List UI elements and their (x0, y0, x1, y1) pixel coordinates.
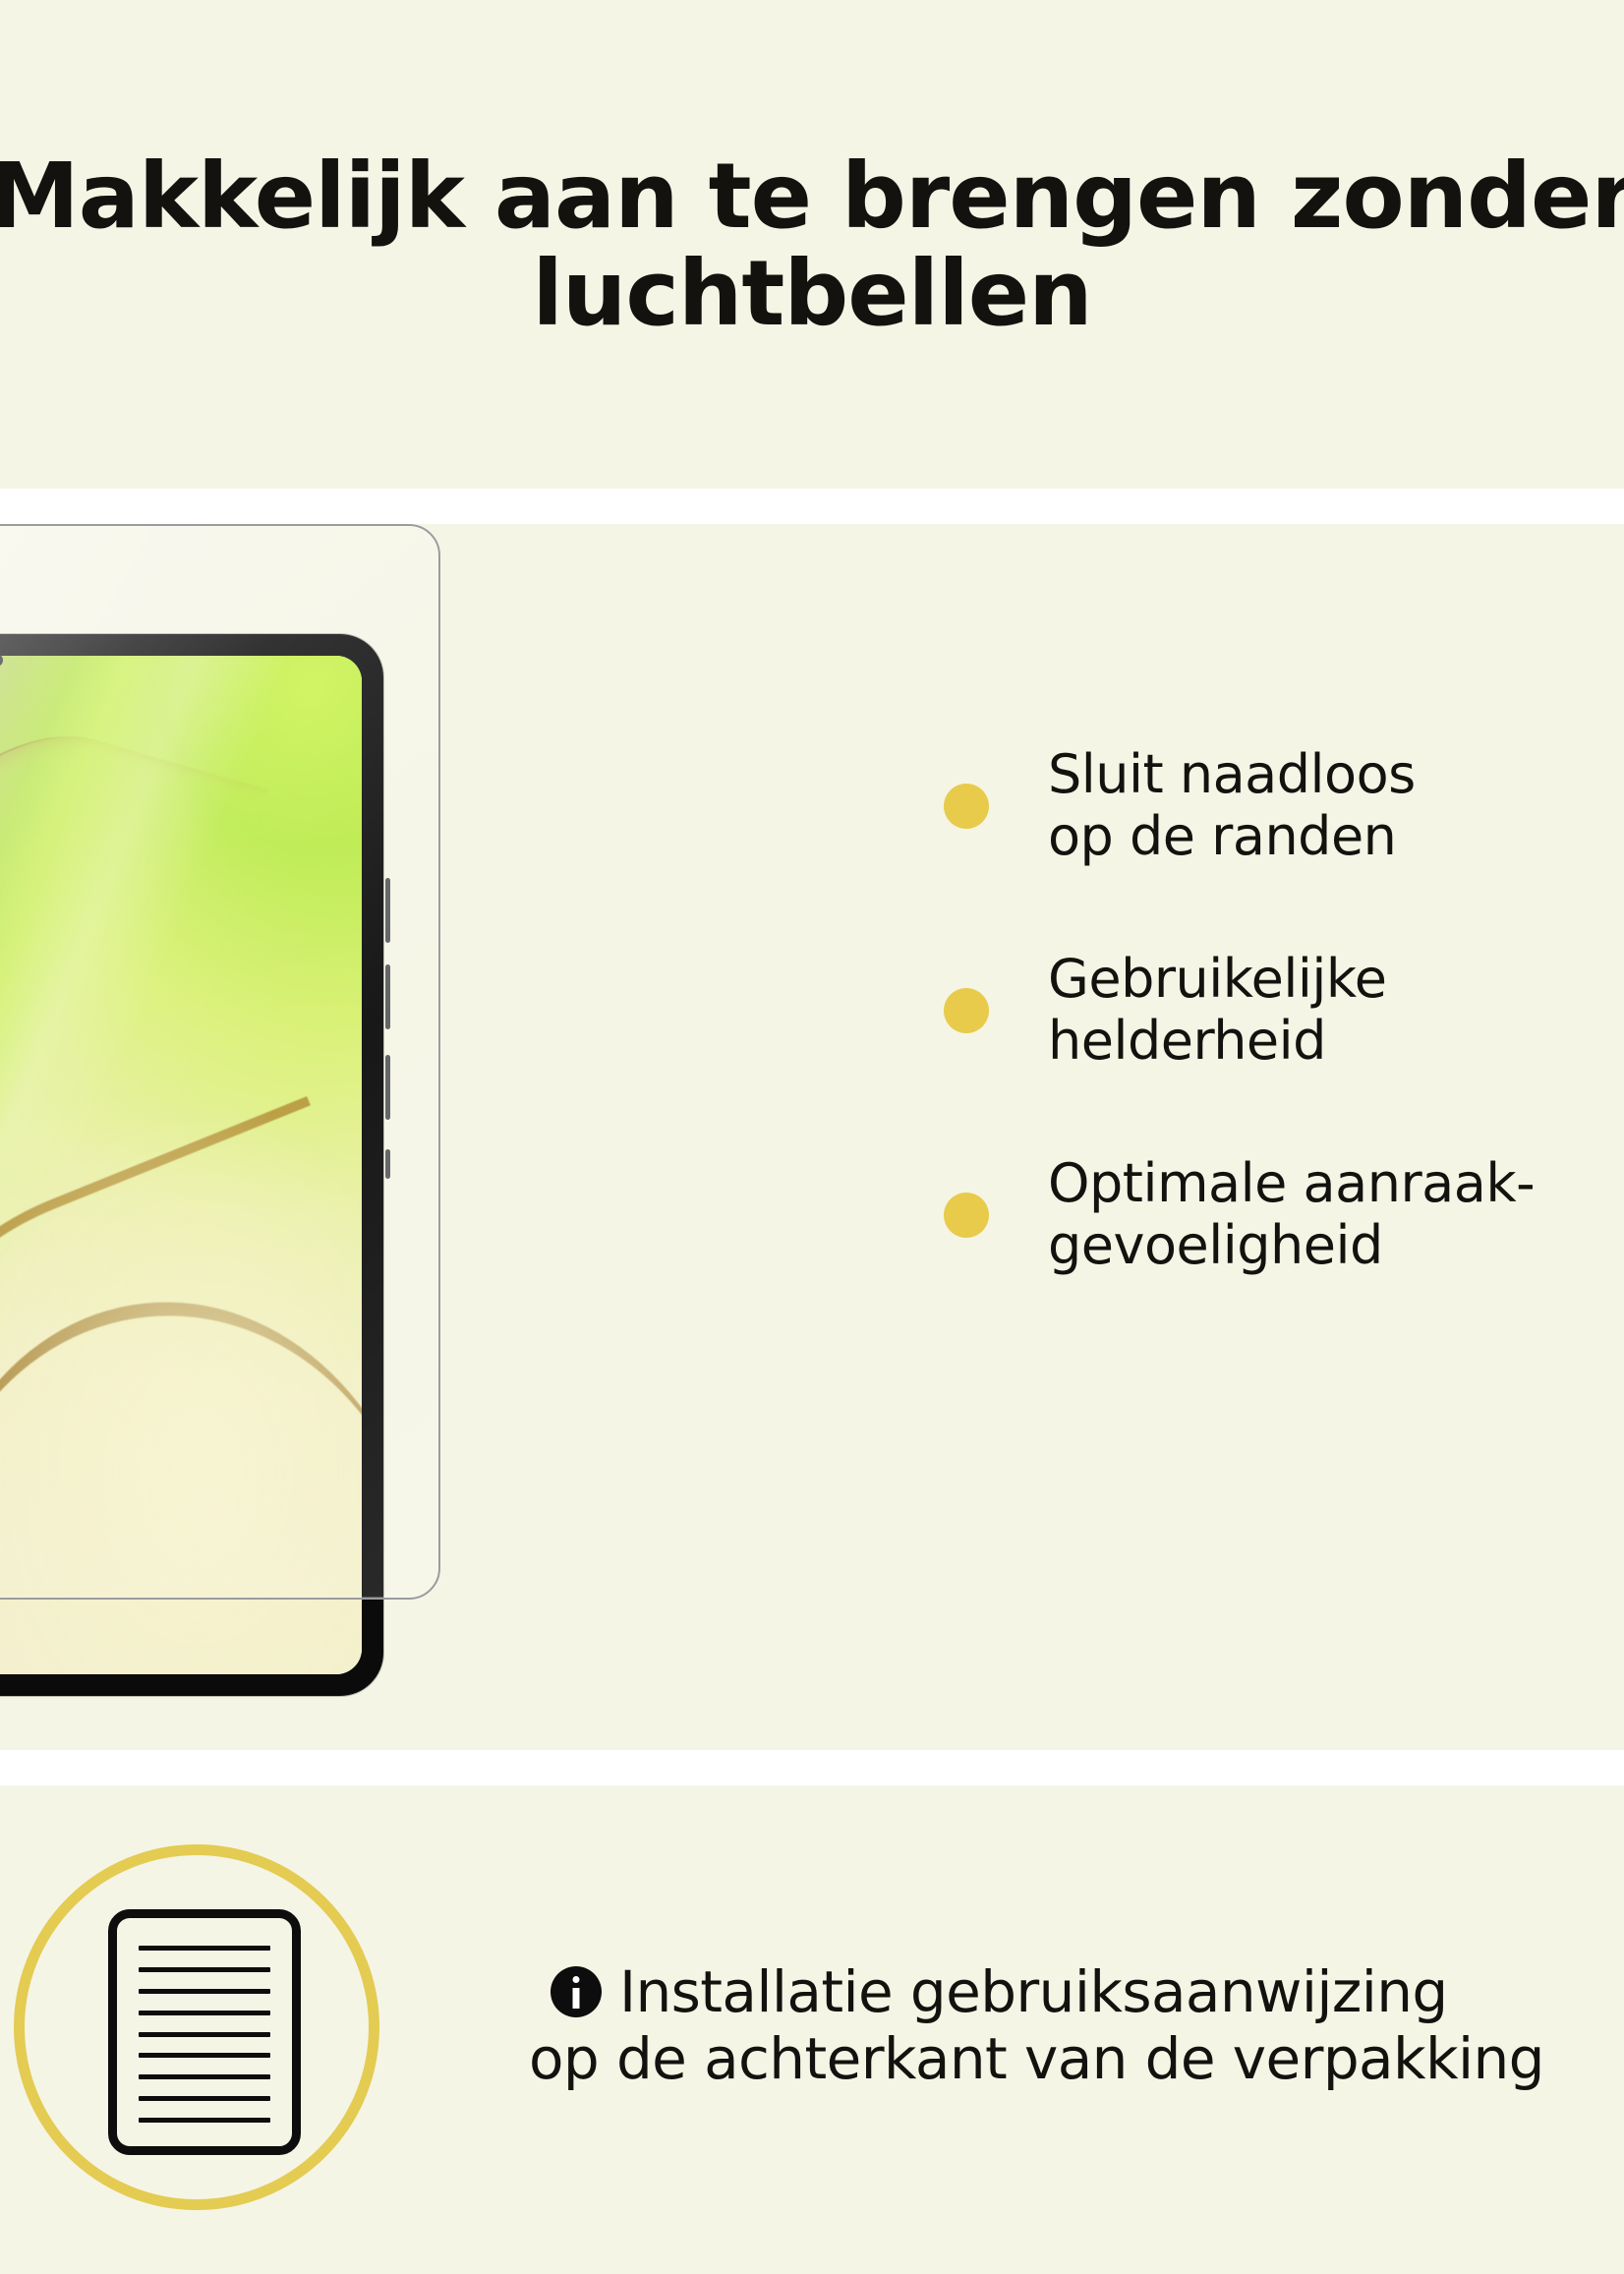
page-title: Makkelijk aan te brengen zonder luchtbel… (0, 147, 1624, 343)
page-title-line-2: luchtbellen (0, 245, 1624, 342)
document-line (139, 1946, 270, 1951)
document-line (139, 2011, 270, 2015)
tablet-device (0, 634, 383, 1696)
tablet-screen (0, 656, 362, 1674)
info-circle-icon (551, 1966, 602, 2017)
document-line (139, 2032, 270, 2037)
list-item: Optimale aanraak- gevoeligheid (944, 1141, 1573, 1289)
divider-bottom (0, 1750, 1624, 1785)
side-button (385, 1055, 390, 1120)
document-line (139, 2118, 270, 2123)
volume-down-button (385, 964, 390, 1029)
feature-label: Optimale aanraak- gevoeligheid (1048, 1153, 1535, 1276)
page-title-line-1: Makkelijk aan te brengen zonder (0, 144, 1624, 249)
feature-label: Sluit naadloos op de randen (1048, 744, 1416, 867)
hero-section: Sluit naadloos op de randen Gebruikelijk… (0, 524, 1624, 1750)
manual-note: Installatie gebruiksaanwijzing op de ach… (551, 1958, 1624, 2093)
document-line (139, 2096, 270, 2101)
wallpaper-image (0, 656, 362, 1674)
manual-badge (14, 1844, 379, 2210)
manual-note-line-2: op de achterkant van de verpakking (529, 2025, 1624, 2092)
wallpaper-glow (0, 1096, 362, 1674)
list-item: Sluit naadloos op de randen (944, 732, 1573, 880)
manual-note-line-1-row: Installatie gebruiksaanwijzing (551, 1958, 1624, 2025)
volume-up-button (385, 878, 390, 943)
manual-note-line-1: Installatie gebruiksaanwijzing (619, 1958, 1448, 2025)
antenna-line (385, 1149, 390, 1179)
tablet-stage (0, 524, 688, 1750)
document-line (139, 2053, 270, 2058)
divider-top (0, 489, 1624, 524)
document-line (139, 1989, 270, 1994)
bullet-dot-icon (944, 784, 989, 829)
feature-list: Sluit naadloos op de randen Gebruikelijk… (944, 732, 1573, 1289)
document-line (139, 2074, 270, 2079)
headline-section: Makkelijk aan te brengen zonder luchtbel… (0, 0, 1624, 489)
list-item: Gebruikelijke helderheid (944, 937, 1573, 1084)
document-line-group (139, 1946, 270, 2123)
footer-section: Installatie gebruiksaanwijzing op de ach… (0, 1785, 1624, 2274)
bullet-dot-icon (944, 1193, 989, 1238)
feature-label: Gebruikelijke helderheid (1048, 949, 1386, 1072)
bullet-dot-icon (944, 988, 989, 1033)
document-line (139, 1967, 270, 1972)
document-lines-icon (108, 1909, 301, 2155)
